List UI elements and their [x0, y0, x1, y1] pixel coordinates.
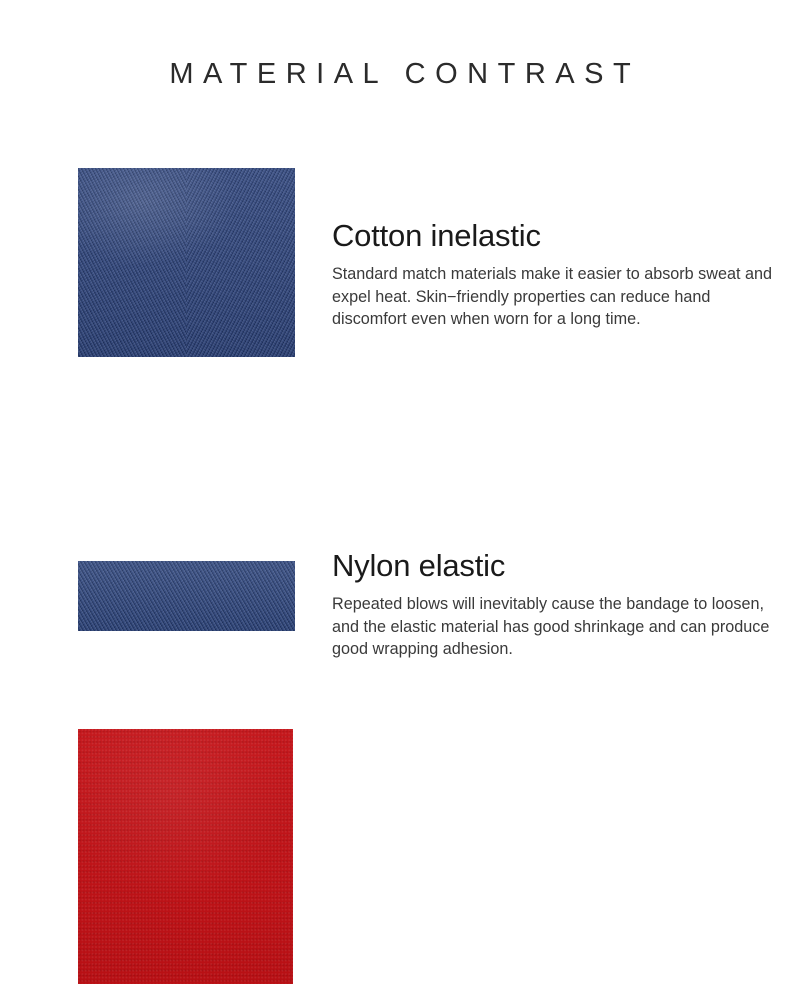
nylon-heading: Nylon elastic	[332, 547, 772, 585]
material-contrast-page: MATERIAL CONTRAST Cotton inelastic Stand…	[0, 0, 800, 800]
page-title: MATERIAL CONTRAST	[0, 57, 800, 91]
info-block-cotton: Cotton inelastic Standard match material…	[332, 217, 772, 331]
swatch-cotton-blue-large	[78, 168, 295, 357]
nylon-description: Repeated blows will inevitably cause the…	[332, 593, 772, 661]
cotton-heading: Cotton inelastic	[332, 217, 772, 255]
info-block-nylon: Nylon elastic Repeated blows will inevit…	[332, 547, 772, 661]
swatch-nylon-red	[78, 729, 293, 984]
swatch-cotton-blue-strip	[78, 561, 295, 631]
herringbone-chevron-right-half	[187, 168, 296, 357]
cotton-description: Standard match materials make it easier …	[332, 263, 772, 331]
